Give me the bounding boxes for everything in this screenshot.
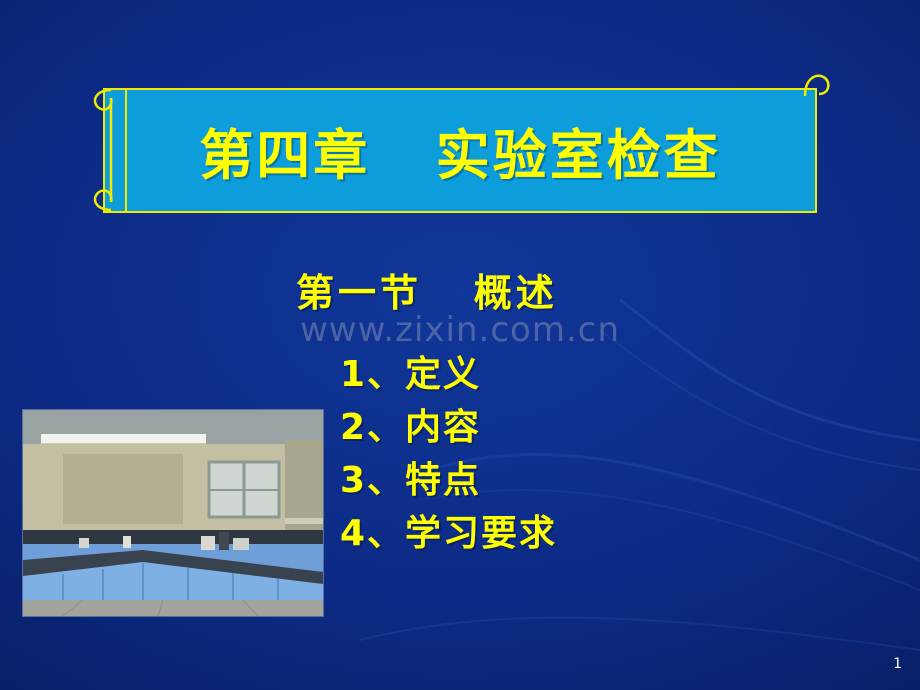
list-item: 3、特点 [340,454,557,507]
list-item: 1、定义 [340,348,557,401]
slide: 第四章 实验室检查 第一节 概述 www.zixin.com.cn 1、定义 2… [0,0,920,690]
watermark-text: www.zixin.com.cn [232,310,688,350]
laboratory-photo [22,409,324,617]
laboratory-photo-image [23,410,323,616]
list-item: 4、学习要求 [340,507,557,560]
section-heading: 第一节 概述 [296,262,558,317]
page-number: 1 [893,656,902,672]
list-item: 2、内容 [340,401,557,454]
chapter-title: 第四章 实验室检查 [103,88,817,213]
title-banner: 第四章 实验室检查 [103,88,817,213]
bullet-list: 1、定义 2、内容 3、特点 4、学习要求 [340,348,557,560]
